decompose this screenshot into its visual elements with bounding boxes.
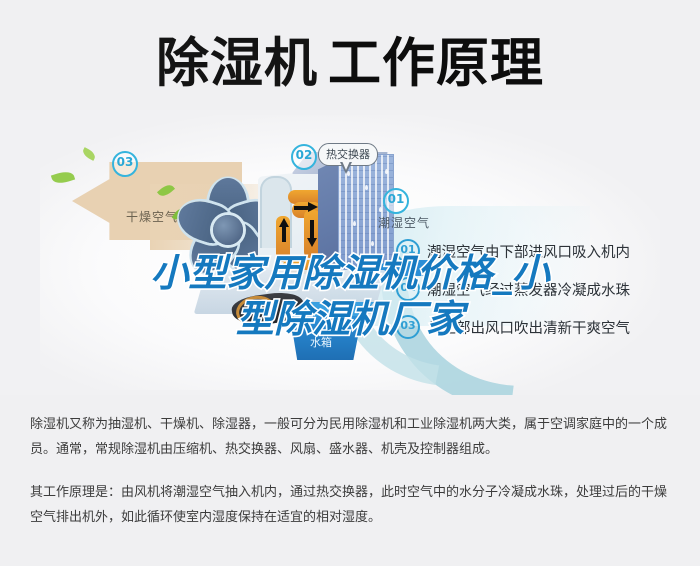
step-badge-03: 03 xyxy=(396,315,420,339)
title-part-product: 除湿机 xyxy=(156,33,318,94)
process-step-list: 01 潮湿空气由下部进风口吸入机内 02 潮湿空气经过蒸发器冷凝成水珠 03 从… xyxy=(396,240,696,354)
flow-arrow-right-icon xyxy=(308,202,318,212)
process-step: 02 潮湿空气经过蒸发器冷凝成水珠 xyxy=(396,278,696,300)
title-part-topic: 工作原理 xyxy=(328,33,544,94)
diagram-badge-01: 01 xyxy=(383,188,409,214)
poster-page: 除湿机工作原理 干燥空气 xyxy=(0,0,700,566)
flow-arrow-stem xyxy=(310,220,314,238)
step-badge-01: 01 xyxy=(396,239,420,263)
flow-arrow-stem xyxy=(294,206,308,210)
water-droplet-icon xyxy=(385,169,388,174)
step-text-02: 潮湿空气经过蒸发器冷凝成水珠 xyxy=(427,279,630,300)
process-step: 03 从上部出风口吹出清新干爽空气 xyxy=(396,316,696,338)
flow-arrow-down-icon xyxy=(307,238,317,247)
article-body: 除湿机又称为抽湿机、干燥机、除湿器，一般可分为民用除湿机和工业除湿机两大类，属于… xyxy=(30,412,674,530)
water-droplet-icon xyxy=(371,241,374,246)
callout-pointer xyxy=(340,162,352,174)
body-paragraph-1: 除湿机又称为抽湿机、干燥机、除湿器，一般可分为民用除湿机和工业除湿机两大类，属于… xyxy=(30,412,674,462)
heat-exchanger-side xyxy=(318,159,340,278)
process-step: 01 潮湿空气由下部进风口吸入机内 xyxy=(396,240,696,262)
humid-air-label: 潮湿空气 xyxy=(378,214,430,231)
step-text-03: 从上部出风口吹出清新干爽空气 xyxy=(427,317,630,338)
body-paragraph-2: 其工作原理是：由风机将潮湿空气抽入机内，通过热交换器，此时空气中的水分子冷凝成水… xyxy=(30,480,674,530)
water-tank-label: 水箱 xyxy=(310,334,332,350)
diagram-badge-03: 03 xyxy=(112,151,138,177)
heat-exchanger-illustration xyxy=(318,154,392,272)
water-droplet-icon xyxy=(365,185,368,190)
water-tank-illustration: 水箱 xyxy=(290,302,374,358)
diagram-badge-02: 02 xyxy=(291,144,317,170)
water-droplet-icon xyxy=(353,221,356,226)
step-badge-02: 02 xyxy=(396,277,420,301)
flow-arrow-stem xyxy=(282,226,286,242)
fan-hub xyxy=(213,215,243,245)
flow-arrow-up-icon xyxy=(279,218,289,227)
page-title: 除湿机工作原理 xyxy=(0,34,700,94)
water-droplet-icon xyxy=(379,207,382,212)
title-band: 除湿机工作原理 xyxy=(0,0,700,118)
step-text-01: 潮湿空气由下部进风口吸入机内 xyxy=(427,241,630,262)
